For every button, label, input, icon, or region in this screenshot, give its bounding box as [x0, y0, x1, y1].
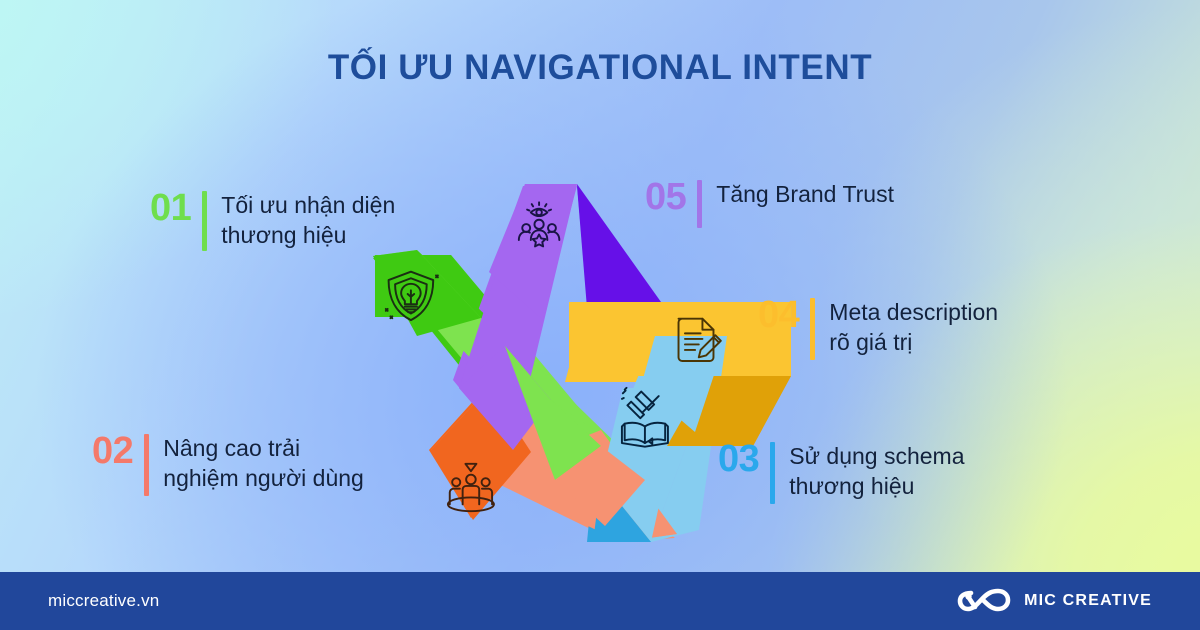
brand-lockup: MIC CREATIVE	[957, 586, 1152, 616]
item-number-03: 03	[718, 440, 759, 480]
item-divider-04	[810, 298, 815, 360]
callout-item-02: 02 Nâng cao trải nghiệm người dùng	[92, 432, 364, 496]
footer-website[interactable]: miccreative.vn	[48, 591, 159, 611]
callout-item-01: 01 Tối ưu nhận diện thương hiệu	[150, 189, 395, 251]
item-number-04: 04	[758, 296, 799, 336]
item-label-05: Tăng Brand Trust	[716, 178, 894, 209]
page-title: TỐI ƯU NAVIGATIONAL INTENT	[0, 48, 1200, 88]
item-label-01: Tối ưu nhận diện thương hiệu	[221, 189, 395, 251]
item-label-04: Meta description rõ giá trị	[829, 296, 998, 358]
item-divider-05	[697, 180, 702, 228]
item-label-03: Sử dụng schema thương hiệu	[789, 440, 964, 502]
brand-name: MIC CREATIVE	[1024, 592, 1152, 610]
item-divider-03	[770, 442, 775, 504]
item-number-05: 05	[645, 178, 686, 218]
item-number-02: 02	[92, 432, 133, 472]
item-number-01: 01	[150, 189, 191, 229]
infinity-logo-icon	[957, 586, 1011, 616]
infographic-canvas: TỐI ƯU NAVIGATIONAL INTENT	[0, 0, 1200, 630]
item-divider-02	[144, 434, 149, 496]
item-label-02: Nâng cao trải nghiệm người dùng	[163, 432, 364, 494]
callout-item-03: 03 Sử dụng schema thương hiệu	[718, 440, 965, 504]
callout-item-05: 05 Tăng Brand Trust	[645, 178, 894, 228]
callout-item-04: 04 Meta description rõ giá trị	[758, 296, 998, 360]
item-divider-01	[202, 191, 207, 251]
footer-bar: miccreative.vn MIC CREATIVE	[0, 572, 1200, 630]
